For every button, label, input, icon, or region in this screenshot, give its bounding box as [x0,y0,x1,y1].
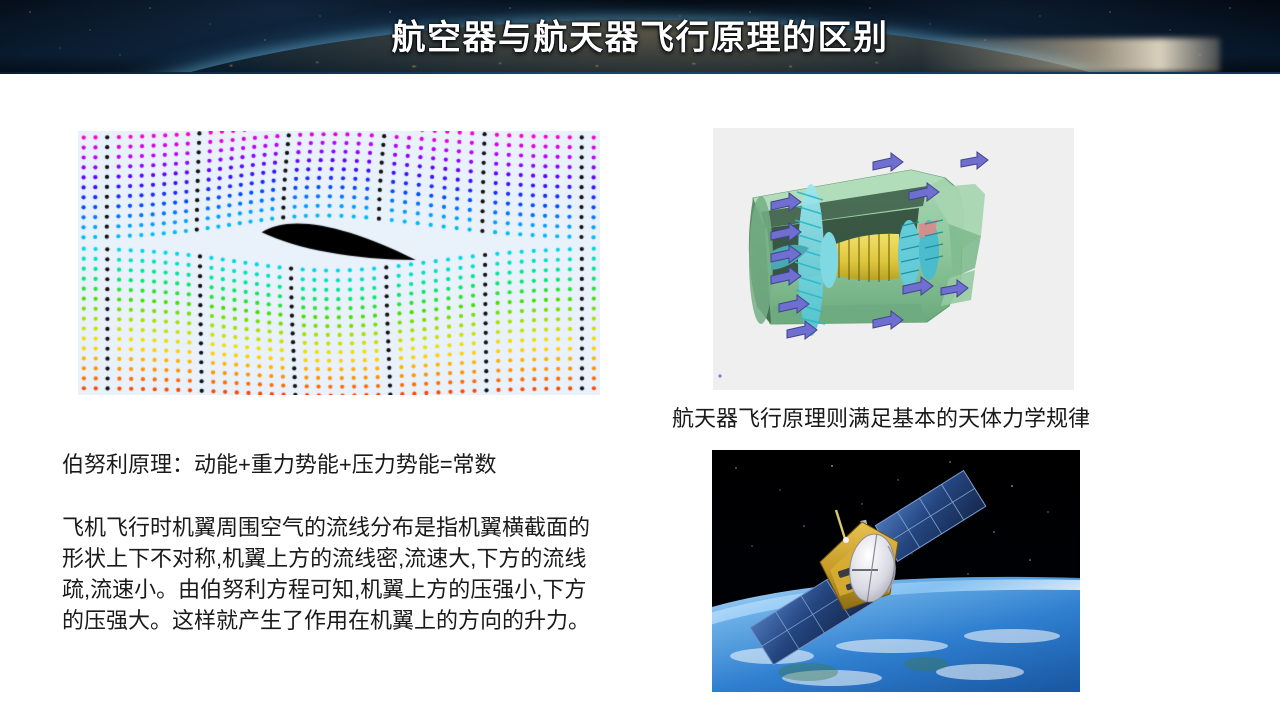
header-bottom-rule [0,72,1280,74]
airfoil-streamline-canvas [78,131,600,395]
lift-explanation-paragraph: 飞机飞行时机翼周围空气的流线分布是指机翼横截面的形状上下不对称,机翼上方的流线密… [62,512,607,636]
airfoil-streamline-figure [78,131,600,395]
satellite-orbit-svg [712,450,1080,692]
turbofan-engine-svg [713,128,1074,390]
spacecraft-caption: 航天器飞行原理则满足基本的天体力学规律 [672,404,1172,434]
page-title: 航空器与航天器飞行原理的区别 [0,10,1280,59]
satellite-orbit-figure [712,450,1080,692]
turbofan-engine-figure [713,128,1074,390]
bernoulli-principle-line: 伯努利原理：动能+重力势能+压力势能=常数 [62,450,622,480]
slide-header-banner: 航空器与航天器飞行原理的区别 [0,0,1280,74]
slide-root: 航空器与航天器飞行原理的区别 伯努利原理：动能+重力势能+压力势能=常数 飞机飞… [0,0,1280,720]
